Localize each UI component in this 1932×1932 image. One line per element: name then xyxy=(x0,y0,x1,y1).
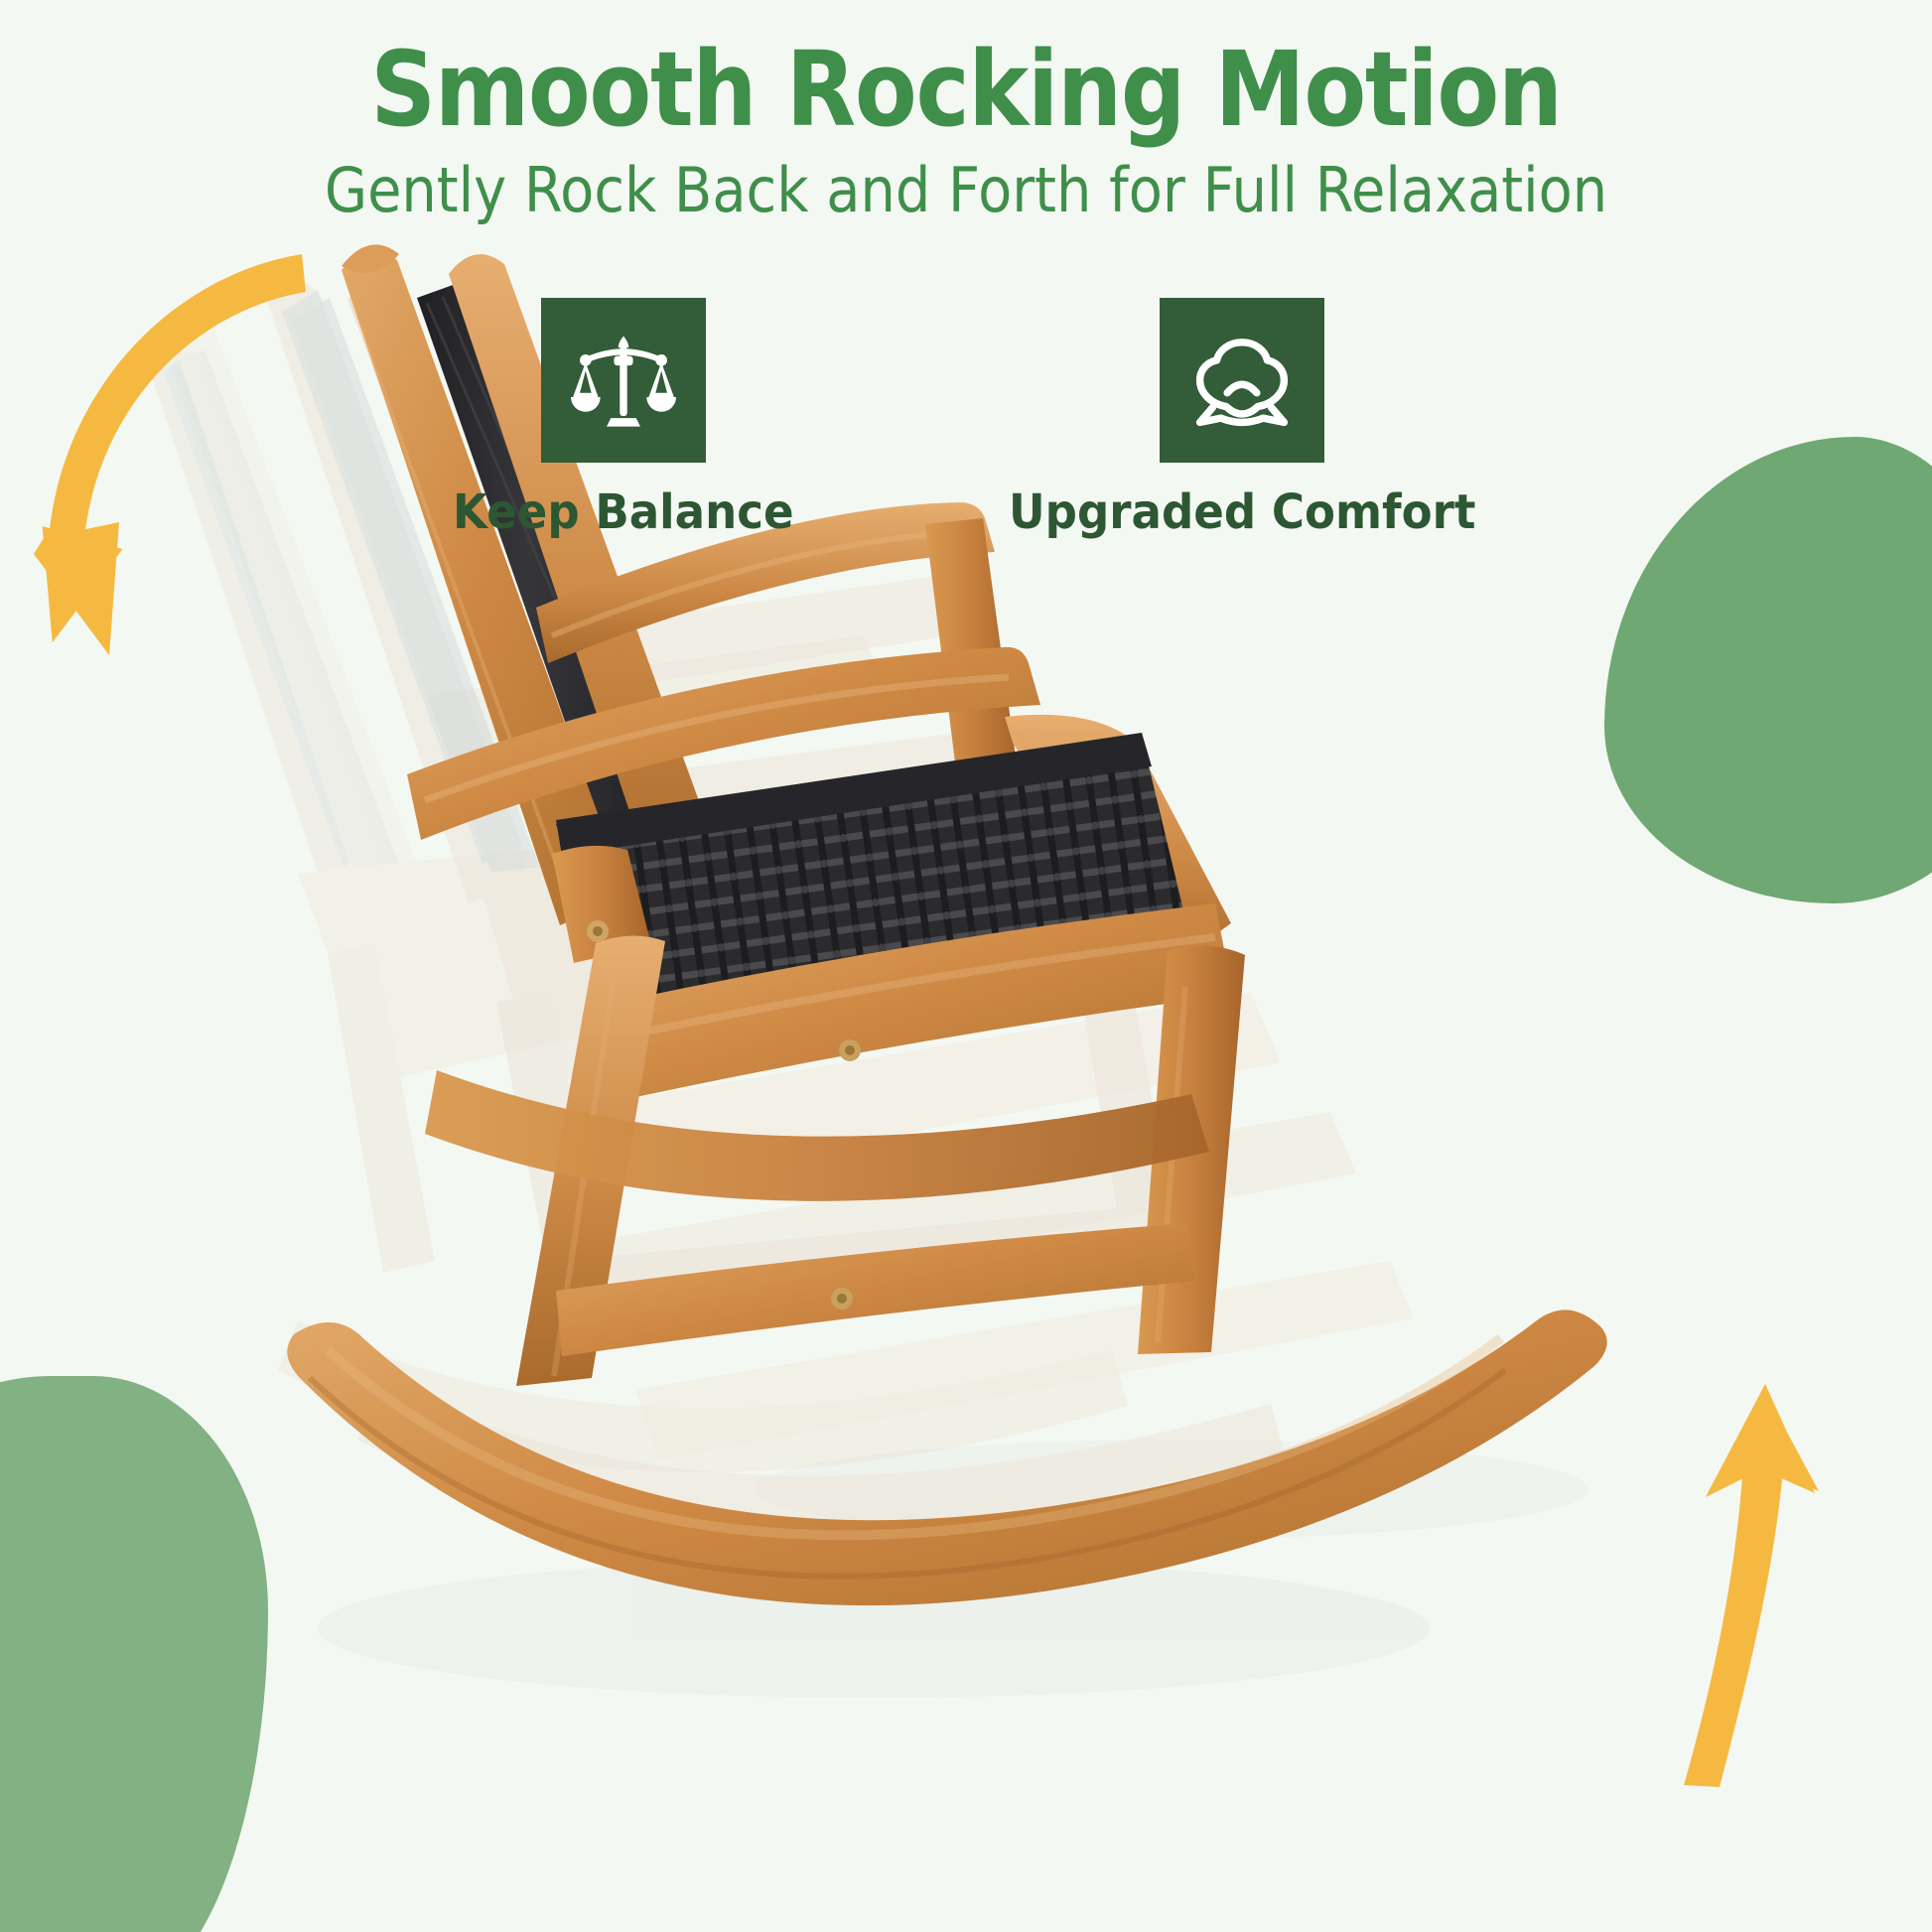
balance-scale-icon xyxy=(571,328,676,433)
page-subtitle: Gently Rock Back and Forth for Full Rela… xyxy=(96,143,1835,224)
feature-label-upgraded-comfort: Upgraded Comfort xyxy=(1009,484,1475,540)
cushion-comfort-icon xyxy=(1189,328,1295,433)
feature-icon-box-comfort xyxy=(1160,298,1324,463)
feature-label-keep-balance: Keep Balance xyxy=(453,484,794,540)
feature-badge-row: Keep Balance xyxy=(0,298,1932,540)
product-feature-image: Smooth Rocking Motion Gently Rock Back a… xyxy=(0,0,1932,1932)
rocking-chair-illustration xyxy=(0,0,1932,1932)
feature-upgraded-comfort: Upgraded Comfort xyxy=(994,298,1490,540)
feature-keep-balance: Keep Balance xyxy=(442,298,805,540)
feature-icon-box-balance xyxy=(541,298,706,463)
header-block: Smooth Rocking Motion Gently Rock Back a… xyxy=(0,0,1932,224)
page-title: Smooth Rocking Motion xyxy=(116,0,1816,143)
